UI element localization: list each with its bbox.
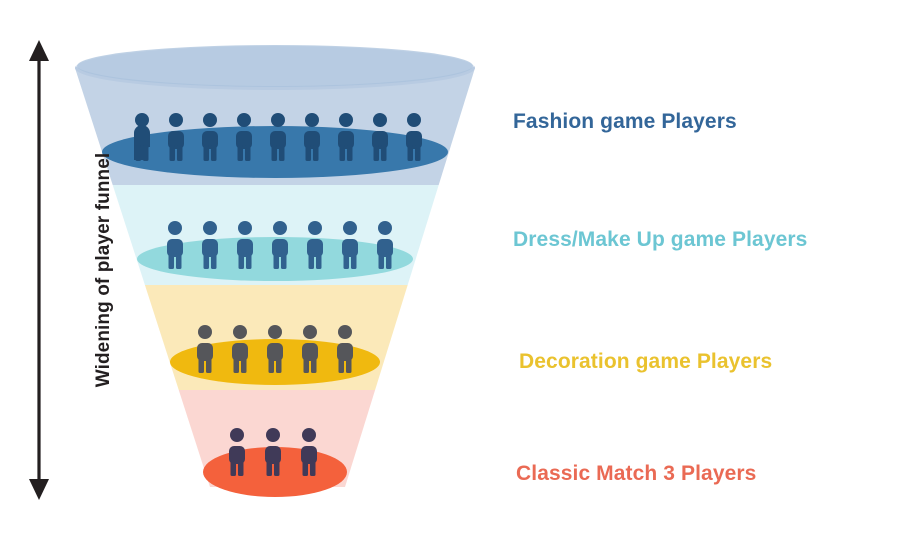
funnel-diagram: Widening of player funnel Fashion game P… <box>0 0 897 540</box>
funnel-graphic <box>0 0 897 540</box>
tier-label-dress-make-up: Dress/Make Up game Players <box>513 229 807 250</box>
arrow-down-icon <box>29 479 49 500</box>
tier-label-classic-match-3: Classic Match 3 Players <box>516 463 756 484</box>
arrow-up-icon <box>29 40 49 61</box>
widening-arrow <box>29 40 49 500</box>
funnel-bands <box>40 55 860 500</box>
tier-label-decoration: Decoration game Players <box>519 351 772 372</box>
person-icon <box>134 113 150 161</box>
axis-label-widening: Widening of player funnel <box>93 70 115 470</box>
funnel-top-rim-inner <box>77 45 473 87</box>
band-decoration <box>40 285 860 390</box>
tier-label-fashion: Fashion game Players <box>513 111 737 132</box>
